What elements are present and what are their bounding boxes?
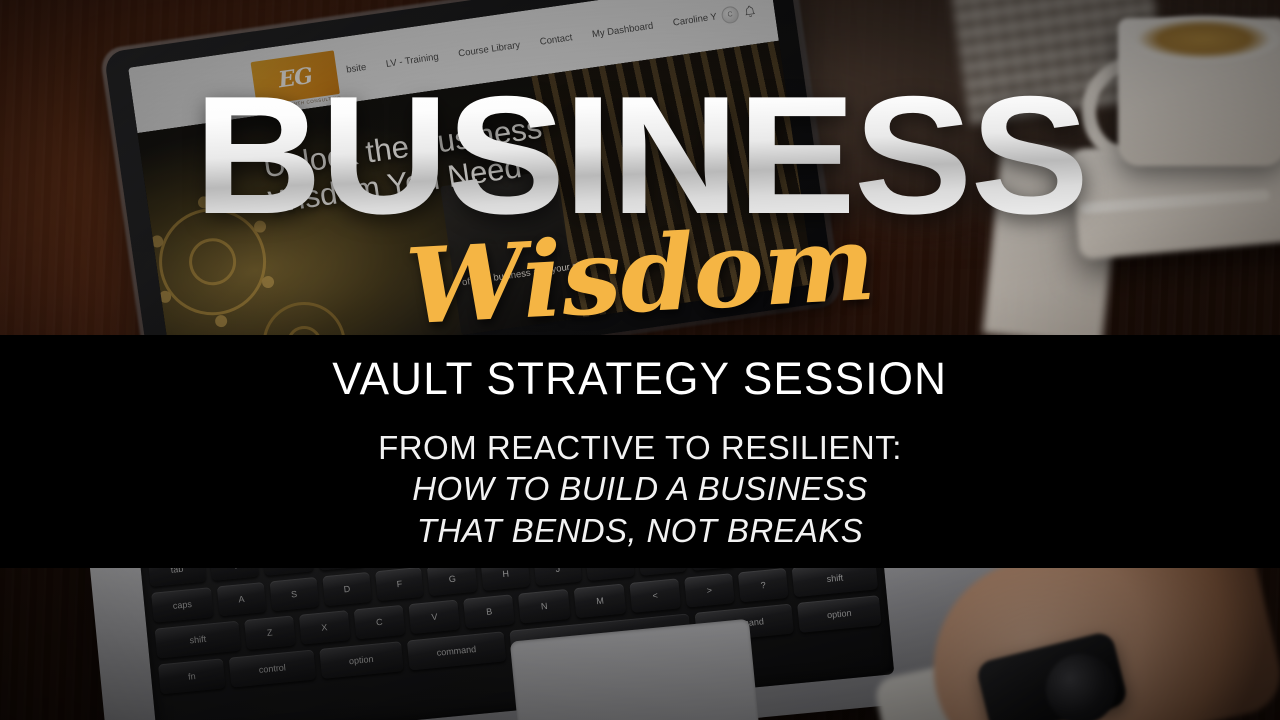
black-banner: VAULT STRATEGY SESSION FROM REACTIVE TO … (0, 335, 1280, 568)
session-title: VAULT STRATEGY SESSION (333, 356, 948, 401)
subtitle-line-2: HOW TO BUILD A BUSINESS (412, 468, 867, 510)
subtitle-line-3: THAT BENDS, NOT BREAKS (417, 510, 863, 552)
subtitle-line-1: FROM REACTIVE TO RESILIENT: (378, 427, 902, 469)
promo-graphic: bsite LV - Training Course Library Conta… (0, 0, 1280, 720)
